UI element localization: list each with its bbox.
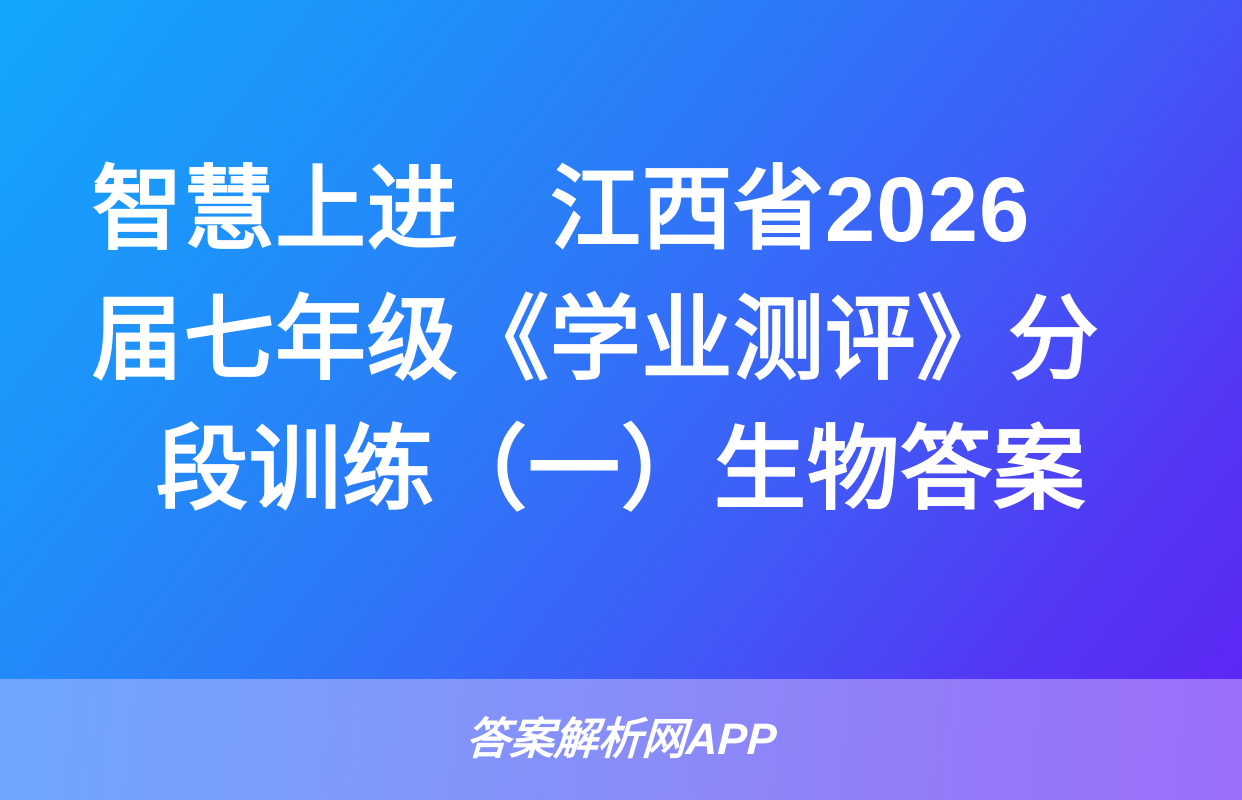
- app-watermark-label: 答案解析网APP: [464, 716, 777, 764]
- headline-line-1: 智慧上进 江西省2026: [92, 145, 1134, 275]
- promo-banner: 智慧上进 江西省2026 届七年级《学业测评》分 段训练（一）生物答案 答案解析…: [0, 0, 1242, 800]
- headline-line-3: 段训练（一）生物答案: [92, 405, 1150, 535]
- headline-block: 智慧上进 江西省2026 届七年级《学业测评》分 段训练（一）生物答案: [0, 0, 1242, 679]
- footer-band: 答案解析网APP: [0, 679, 1242, 800]
- headline-line-2: 届七年级《学业测评》分: [92, 275, 1134, 405]
